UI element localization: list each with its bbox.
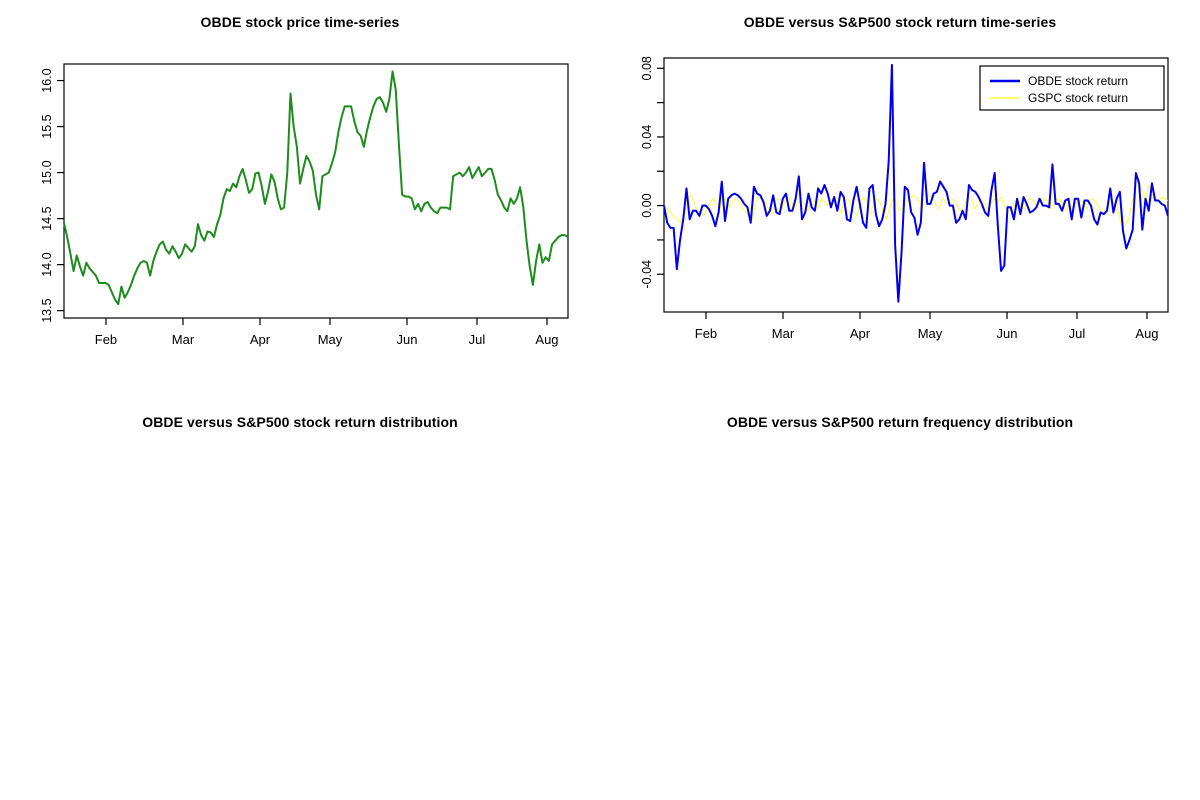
price-plot-area: 13.514.014.515.015.516.0FebMarAprMayJunJ… [0, 0, 600, 400]
legend-label-0: OBDE stock return [1028, 74, 1128, 88]
x-axis-tick-label: Apr [250, 332, 271, 347]
figure-grid: OBDE stock price time-series 13.514.014.… [0, 0, 1200, 800]
x-axis-tick-label: Jun [397, 332, 418, 347]
y-axis-tick-label: 0.04 [640, 125, 654, 149]
y-axis-tick-label: 13.5 [40, 298, 54, 322]
y-axis-tick-label: 15.0 [40, 160, 54, 184]
y-axis-tick-label: -0.04 [640, 260, 654, 289]
y-axis-tick-label: 14.0 [40, 252, 54, 276]
legend-label-1: GSPC stock return [1028, 91, 1128, 105]
panel-return-distribution: OBDE versus S&P500 stock return distribu… [0, 400, 600, 800]
x-axis-tick-label: Feb [695, 326, 717, 341]
x-axis-tick-label: May [318, 332, 343, 347]
price-line-obde [64, 71, 568, 304]
y-axis-tick-label: 14.5 [40, 206, 54, 230]
price-chart-svg: 13.514.014.515.015.516.0FebMarAprMayJunJ… [0, 0, 600, 400]
x-axis-tick-label: Jul [1069, 326, 1086, 341]
return-ts-chart-svg: -0.040.000.040.08FebMarAprMayJunJulAugOB… [600, 0, 1200, 400]
panel-return-frequency: OBDE versus S&P500 return frequency dist… [600, 400, 1200, 800]
x-axis-tick-label: Jun [997, 326, 1018, 341]
x-axis-tick-label: Apr [850, 326, 871, 341]
x-axis-tick-label: May [918, 326, 943, 341]
y-axis-tick-label: 16.0 [40, 68, 54, 92]
y-axis-tick-label: 0.00 [640, 193, 654, 217]
x-axis-tick-label: Aug [1135, 326, 1158, 341]
y-axis-tick-label: 0.08 [640, 56, 654, 80]
x-axis-tick-label: Mar [172, 332, 195, 347]
return-line-gspc [664, 178, 1168, 228]
return-freq-plot-area: 010203040frequency[-0.051,-0.0465)[-0.01… [600, 400, 1200, 800]
x-axis-tick-label: Mar [772, 326, 795, 341]
panel-obde-price-timeseries: OBDE stock price time-series 13.514.014.… [0, 0, 600, 400]
return-dist-chart-svg: 0102030405060-0.04-0.020.000.020.040.060… [0, 400, 600, 800]
x-axis-tick-label: Jul [469, 332, 486, 347]
panel-return-timeseries: OBDE versus S&P500 stock return time-ser… [600, 0, 1200, 400]
x-axis-tick-label: Feb [95, 332, 117, 347]
y-axis-tick-label: 15.5 [40, 114, 54, 138]
return-ts-plot-area: -0.040.000.040.08FebMarAprMayJunJulAugOB… [600, 0, 1200, 400]
x-axis-tick-label: Aug [535, 332, 558, 347]
return-dist-plot-area: 0102030405060-0.04-0.020.000.020.040.060… [0, 400, 600, 800]
return-freq-chart-svg: 010203040frequency[-0.051,-0.0465)[-0.01… [600, 400, 1200, 800]
